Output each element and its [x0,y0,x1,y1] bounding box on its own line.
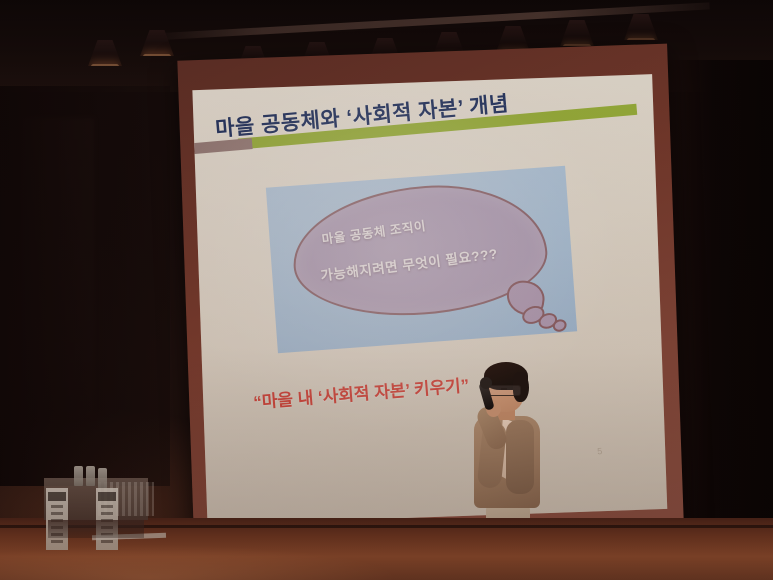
water-bottle [74,466,83,486]
slide-image-panel: 마을 공동체 조직이 가능해지려면 무엇이 필요??? [266,166,577,354]
name-placard [46,488,68,550]
glasses-icon [487,385,521,396]
projection-screen: 마을 공동체와 ‘사회적 자본’ 개념 마을 공동체 조직이 가능해지려면 무엇… [177,44,684,566]
water-bottle [86,466,95,486]
presentation-slide: 마을 공동체와 ‘사회적 자본’ 개념 마을 공동체 조직이 가능해지려면 무엇… [192,74,667,525]
screen-surface: 마을 공동체와 ‘사회적 자본’ 개념 마을 공동체 조직이 가능해지려면 무엇… [192,74,667,525]
water-bottle [98,468,107,488]
placard-header [48,492,66,501]
name-placard [96,488,118,550]
table-legs [48,520,144,538]
presenter-arm-left [506,420,534,494]
slide-number: 5 [597,446,603,456]
microphone-head-icon [480,377,492,389]
placard-header [98,492,116,501]
stage-curtain-left [0,86,170,486]
photo-scene: 마을 공동체와 ‘사회적 자본’ 개념 마을 공동체 조직이 가능해지려면 무엇… [0,0,773,580]
